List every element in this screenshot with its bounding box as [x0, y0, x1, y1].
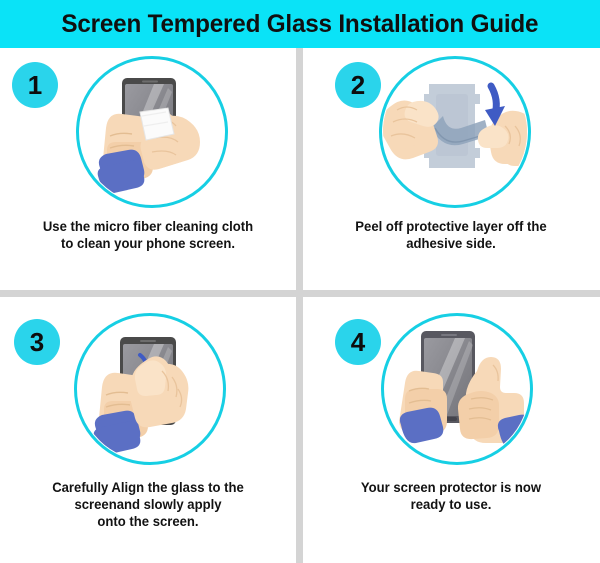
installation-guide-poster: Screen Tempered Glass Installation Guide…	[0, 0, 600, 563]
step-number-badge-2: 2	[335, 62, 381, 108]
thumbs-up-illustration	[381, 313, 533, 465]
step-number-label: 1	[28, 70, 42, 101]
step-number-badge-4: 4	[335, 319, 381, 365]
step-caption-2: Peel off protective layer off the adhesi…	[317, 218, 585, 252]
step-illustration-4	[381, 313, 533, 465]
horizontal-divider	[0, 290, 600, 297]
caption-line: adhesive side.	[317, 235, 585, 252]
step-illustration-2	[379, 56, 531, 208]
step-panel-3: 3	[0, 297, 296, 563]
header-banner: Screen Tempered Glass Installation Guide	[0, 0, 600, 48]
cleaning-cloth-illustration	[76, 56, 228, 208]
page-title: Screen Tempered Glass Installation Guide	[62, 10, 539, 39]
step-panel-4: 4	[303, 297, 599, 563]
align-glass-illustration	[74, 313, 226, 465]
step-panel-1: 1	[0, 48, 296, 290]
step-number-label: 4	[351, 327, 365, 358]
step-number-badge-3: 3	[14, 319, 60, 365]
step-illustration-3	[74, 313, 226, 465]
steps-grid: 1	[0, 48, 600, 563]
caption-line: onto the screen.	[14, 513, 282, 530]
step-caption-3: Carefully Align the glass to the screena…	[14, 479, 282, 530]
caption-line: Your screen protector is now	[317, 479, 585, 496]
caption-line: Peel off protective layer off the	[317, 218, 585, 235]
caption-line: ready to use.	[317, 496, 585, 513]
step-number-label: 2	[351, 70, 365, 101]
step-number-label: 3	[30, 327, 44, 358]
caption-line: Use the micro fiber cleaning cloth	[14, 218, 282, 235]
step-number-badge-1: 1	[12, 62, 58, 108]
caption-line: screenand slowly apply	[14, 496, 282, 513]
step-caption-1: Use the micro fiber cleaning cloth to cl…	[14, 218, 282, 252]
caption-line: Carefully Align the glass to the	[14, 479, 282, 496]
peel-film-illustration	[379, 56, 531, 208]
caption-line: to clean your phone screen.	[14, 235, 282, 252]
step-panel-2: 2	[303, 48, 599, 290]
vertical-divider	[296, 48, 303, 563]
step-caption-4: Your screen protector is now ready to us…	[317, 479, 585, 513]
step-illustration-1	[76, 56, 228, 208]
